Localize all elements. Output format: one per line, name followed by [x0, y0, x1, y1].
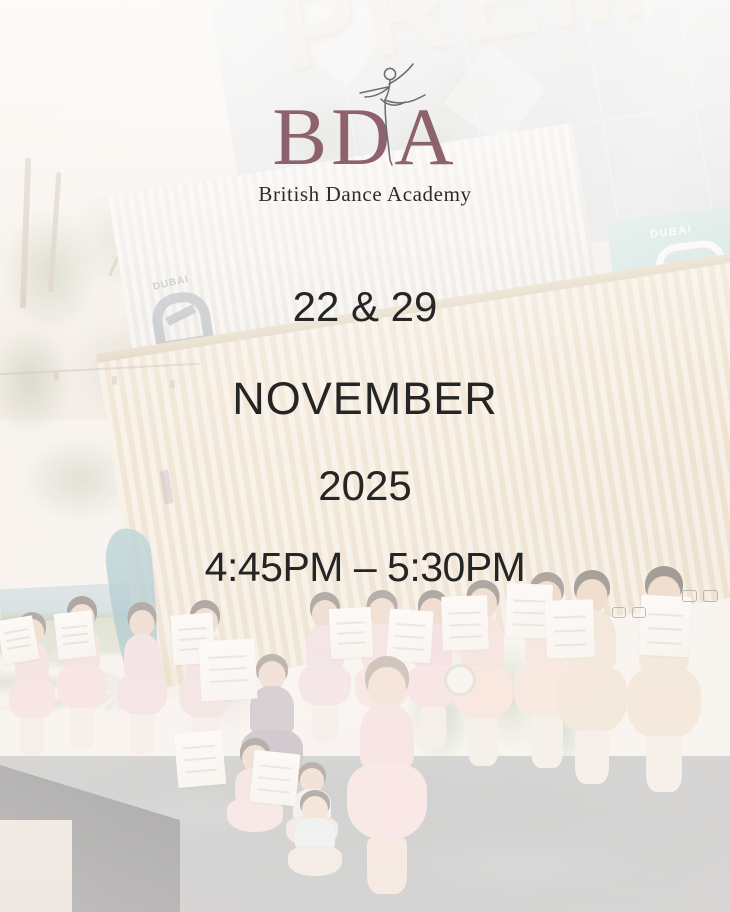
text-overlay: BDA	[0, 0, 730, 912]
event-poster: P R E M DUBAI DUBAI	[0, 0, 730, 912]
logo-letters-wrap: BDA	[272, 96, 457, 178]
event-details: 22 & 29 NOVEMBER 2025 4:45PM – 5:30PM	[0, 286, 730, 588]
event-year: 2025	[0, 465, 730, 507]
logo-letters: BDA	[272, 91, 457, 182]
logo-subtitle: British Dance Academy	[0, 182, 730, 207]
event-time: 4:45PM – 5:30PM	[0, 547, 730, 588]
brand-logo: BDA	[0, 96, 730, 207]
event-month: NOVEMBER	[0, 376, 730, 421]
event-dates: 22 & 29	[0, 286, 730, 328]
